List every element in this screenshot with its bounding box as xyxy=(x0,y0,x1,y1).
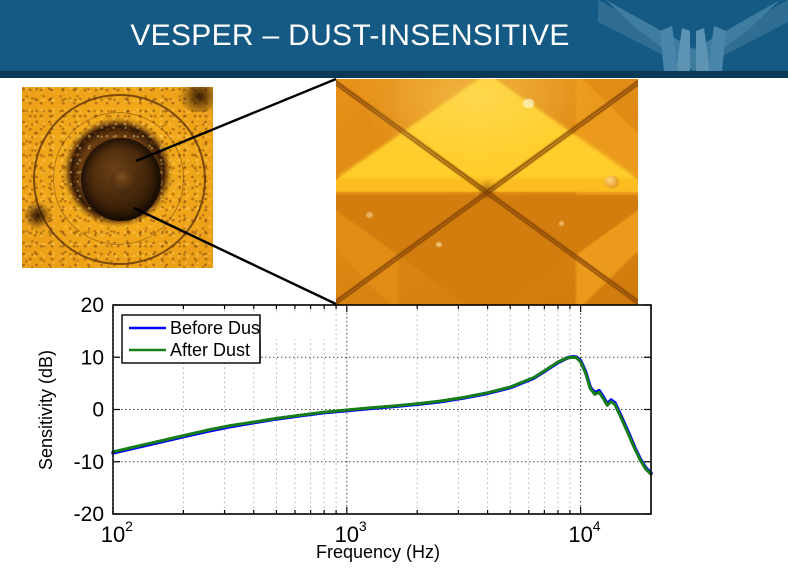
x-tick-label: 102 xyxy=(101,518,133,547)
y-tick-label: -10 xyxy=(74,451,104,474)
y-tick-label: 20 xyxy=(81,294,104,317)
micrograph-microphone-port xyxy=(22,87,213,268)
diaphragm-dust-particle xyxy=(523,99,534,108)
port-hole xyxy=(81,138,161,221)
header-divider xyxy=(0,71,788,78)
chart-y-axis-title: Sensitivity (dB) xyxy=(36,350,56,470)
port-hole-inner xyxy=(111,168,135,195)
chart-legend[interactable]: Before Dust After Dust xyxy=(122,315,265,363)
svg-text:10: 10 xyxy=(101,522,125,547)
y-tick-label: 10 xyxy=(81,346,104,369)
legend-hit-area[interactable] xyxy=(122,315,260,363)
slide-canvas: VESPER – DUST-INSENSITIVE xyxy=(0,0,788,572)
svg-text:3: 3 xyxy=(359,518,367,534)
micrograph-diaphragm-closeup xyxy=(336,79,638,305)
diaphragm-illumination-glow xyxy=(336,79,638,305)
svg-text:4: 4 xyxy=(593,518,601,534)
diaphragm-dust-particle xyxy=(436,242,442,247)
svg-text:2: 2 xyxy=(125,518,133,534)
svg-text:10: 10 xyxy=(568,522,592,547)
chart-x-axis-title: Frequency (Hz) xyxy=(316,542,440,562)
y-tick-label: -20 xyxy=(74,503,104,526)
diaphragm-dust-particle xyxy=(605,176,619,188)
page-title: VESPER – DUST-INSENSITIVE xyxy=(0,0,700,71)
chart-y-tick-labels: -20-1001020 xyxy=(74,294,104,526)
legend-clip-mask xyxy=(260,315,330,339)
sensitivity-frequency-chart: -20-1001020 102103104 Frequency (Hz) Sen… xyxy=(0,290,788,572)
slide-header-bar: VESPER – DUST-INSENSITIVE xyxy=(0,0,788,71)
x-tick-label: 104 xyxy=(568,518,600,547)
y-tick-label: 0 xyxy=(92,399,104,422)
port-blotch-left xyxy=(24,201,51,230)
